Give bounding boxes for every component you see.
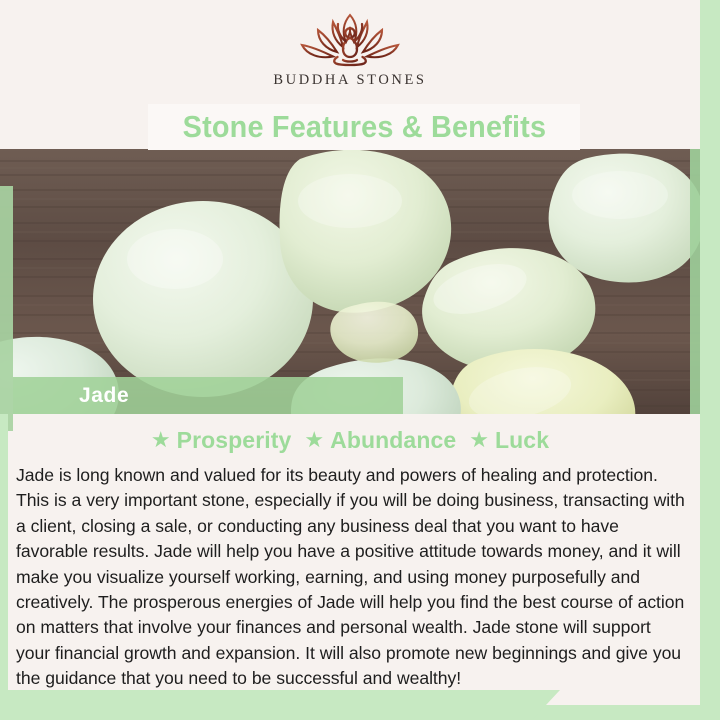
lotus-meditation-icon xyxy=(285,7,415,69)
feature-item: ★ Prosperity xyxy=(151,427,292,454)
feature-item: ★ Luck xyxy=(469,427,549,454)
stone-name-bar: Jade xyxy=(13,377,403,414)
feature-list: ★ Prosperity ★ Abundance ★ Luck xyxy=(0,427,700,454)
feature-item: ★ Abundance xyxy=(304,427,456,454)
feature-label: Abundance xyxy=(330,427,456,454)
stone-name-label: Jade xyxy=(79,384,129,408)
infographic-page: BUDDHA STONES Stone Features & Benefits xyxy=(0,0,720,720)
bottom-accent-wedge xyxy=(0,690,720,720)
star-icon: ★ xyxy=(304,429,324,451)
brand-name: BUDDHA STONES xyxy=(273,72,426,89)
feature-label: Luck xyxy=(495,427,549,454)
photo-accent-strip-left xyxy=(0,186,13,431)
section-title-band: Stone Features & Benefits xyxy=(148,104,580,150)
page-title: Stone Features & Benefits xyxy=(182,109,546,145)
content-accent-strip-left xyxy=(0,414,8,690)
star-icon: ★ xyxy=(151,429,171,451)
stone-photo xyxy=(0,149,700,414)
star-icon: ★ xyxy=(469,429,489,451)
content-panel: ★ Prosperity ★ Abundance ★ Luck Jade is … xyxy=(0,414,700,690)
feature-label: Prosperity xyxy=(177,427,292,454)
stone-description: Jade is long known and valued for its be… xyxy=(16,463,686,692)
photo-accent-strip-right xyxy=(690,149,700,414)
